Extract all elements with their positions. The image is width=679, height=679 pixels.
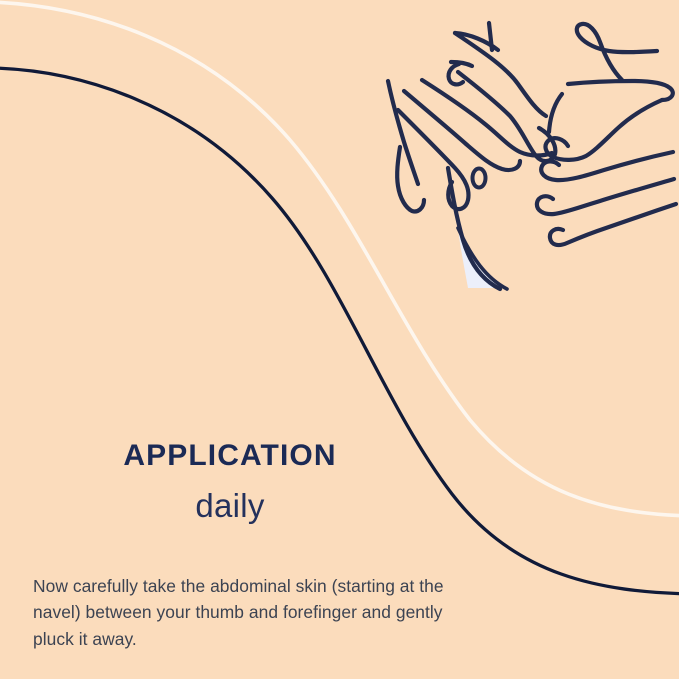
navel-oval [473, 169, 486, 188]
right-hand-middle-finger [541, 152, 673, 180]
right-hand-thumb [577, 24, 657, 80]
right-hand-back-edge [549, 94, 562, 132]
left-hand-middle-finger [422, 80, 552, 156]
frequency-label: daily [0, 489, 460, 524]
body-contour-light-curve [0, 2, 679, 516]
right-hand-ring-finger [537, 179, 674, 214]
instruction-paragraph: Now carefully take the abdominal skin (s… [33, 573, 453, 652]
left-hand-thumb-lower [455, 33, 546, 116]
poster-canvas: APPLICATION daily Now carefully take the… [0, 0, 679, 679]
left-hand-ring-finger [404, 91, 520, 170]
hand-illustration-group [388, 23, 676, 289]
text-content-block: APPLICATION daily Now carefully take the… [0, 440, 679, 523]
page-title: APPLICATION [0, 440, 460, 472]
left-hand-thumb-tick [489, 23, 492, 50]
pinched-skin-wedge [458, 228, 505, 288]
right-hand-index-finger [546, 100, 662, 160]
right-hand-thumb-base [568, 81, 673, 100]
